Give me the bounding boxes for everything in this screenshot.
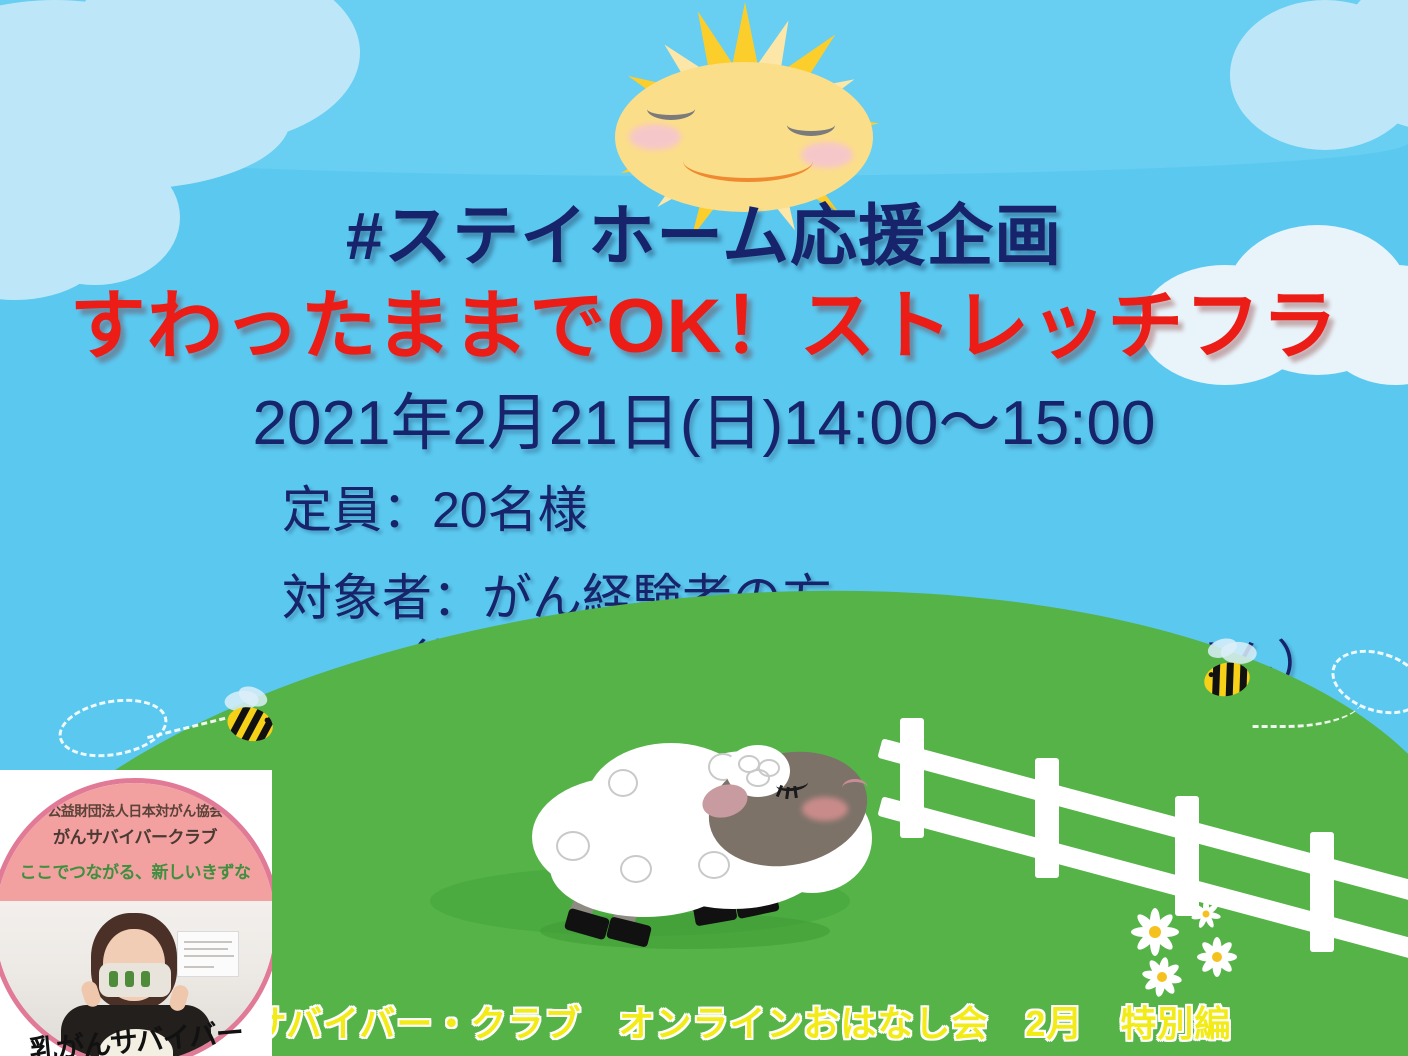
cloud-top-right	[1230, 0, 1408, 160]
photo-note-card	[177, 931, 239, 977]
page-subtitle: すわったままでOK！ストレッチフラ	[0, 264, 1408, 374]
logo-org-line2: がんサバイバークラブ	[53, 823, 217, 848]
logo-tagline: ここでつながる、新しいきずな	[20, 858, 251, 883]
photo-person-mask	[99, 963, 171, 997]
flower-icon	[1190, 898, 1222, 930]
sheep-icon	[490, 735, 890, 955]
logo-header: 公益財団法人日本対がん協会 がんサバイバークラブ ここでつながる、新しいきずな	[0, 783, 272, 901]
flower-icon	[1195, 935, 1239, 979]
flower-icon	[1140, 955, 1184, 999]
event-date-time: 2021年2月21日(日)14:00〜15:00	[0, 372, 1408, 462]
poster-canvas: #ステイホーム応援企画 すわったままでOK！ストレッチフラ 2021年2月21日…	[0, 0, 1408, 1056]
detail-capacity: 定員：20名様	[282, 477, 1292, 543]
organization-logo-card[interactable]: 公益財団法人日本対がん協会 がんサバイバークラブ ここでつながる、新しいきずな	[0, 770, 272, 1056]
flower-icon	[1128, 905, 1182, 959]
logo-org-line1: 公益財団法人日本対がん協会	[47, 801, 223, 821]
